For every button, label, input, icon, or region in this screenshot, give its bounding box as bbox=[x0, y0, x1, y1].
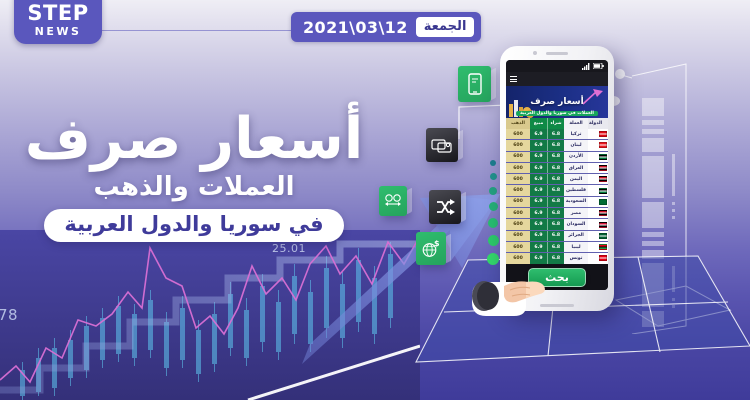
cell-buy: 6.8 bbox=[547, 219, 564, 229]
tile-edge bbox=[461, 192, 466, 223]
tile-edge bbox=[491, 68, 496, 101]
cell-country-name: ليبيا bbox=[564, 242, 588, 252]
phone-camera bbox=[533, 51, 537, 55]
cell-sell: 6.9 bbox=[530, 208, 547, 218]
logo-primary-text: STEP bbox=[27, 3, 88, 24]
cell-buy: 6.8 bbox=[547, 185, 564, 195]
cell-buy: 6.8 bbox=[547, 163, 564, 173]
cell-gold: 600 bbox=[506, 208, 530, 218]
cell-flag bbox=[588, 219, 608, 229]
cell-gold: 600 bbox=[506, 185, 530, 195]
th-sell: مبيع bbox=[530, 118, 547, 129]
table-row[interactable]: 6006.96.8العراق bbox=[506, 163, 608, 174]
cell-buy: 6.8 bbox=[547, 129, 564, 139]
dot-3 bbox=[489, 187, 497, 195]
cell-country-name: الجزائر bbox=[564, 231, 588, 241]
dot-4 bbox=[489, 202, 498, 211]
th-buy: شراء bbox=[547, 118, 564, 129]
flag-icon bbox=[599, 188, 607, 194]
cell-country-name: الأردن bbox=[564, 152, 588, 162]
cell-sell: 6.9 bbox=[530, 140, 547, 150]
headline-block: أسعار صرف العملات والذهب في سوريا والدول… bbox=[8, 112, 380, 242]
signal-icon bbox=[582, 63, 590, 70]
cell-gold: 600 bbox=[506, 219, 530, 229]
table-row[interactable]: 6006.96.8اليمن bbox=[506, 174, 608, 185]
progress-dots bbox=[487, 160, 499, 265]
cell-country-name: العراق bbox=[564, 163, 588, 173]
cell-country-name: مصر bbox=[564, 208, 588, 218]
flag-icon bbox=[599, 244, 607, 250]
table-row[interactable]: 6006.96.8السعودية bbox=[506, 197, 608, 208]
cell-country-name: تركيا bbox=[564, 129, 588, 139]
cell-gold: 600 bbox=[506, 174, 530, 184]
globe-currency-icon[interactable]: $ bbox=[416, 232, 446, 265]
tile-edge bbox=[446, 234, 451, 264]
flag-icon bbox=[599, 176, 607, 182]
banner-arrow-icon bbox=[583, 89, 605, 105]
cell-flag bbox=[588, 231, 608, 241]
cell-sell: 6.9 bbox=[530, 197, 547, 207]
cell-sell: 6.9 bbox=[530, 152, 547, 162]
cell-buy: 6.8 bbox=[547, 208, 564, 218]
cell-buy: 6.8 bbox=[547, 197, 564, 207]
flag-icon bbox=[599, 233, 607, 239]
cell-gold: 600 bbox=[506, 197, 530, 207]
coins-glyph bbox=[384, 192, 402, 210]
table-row[interactable]: 6006.96.8الأردن bbox=[506, 152, 608, 163]
cell-country-name: السودان bbox=[564, 219, 588, 229]
chart-annotation-left: 78 bbox=[0, 306, 18, 324]
app-banner: أسعار صرف العملات في سوريا والدول العربي… bbox=[506, 86, 608, 118]
cell-flag bbox=[588, 163, 608, 173]
flag-icon bbox=[599, 154, 607, 160]
globe-glyph: $ bbox=[421, 239, 441, 259]
cell-gold: 600 bbox=[506, 163, 530, 173]
cell-flag bbox=[588, 208, 608, 218]
cell-gold: 600 bbox=[506, 152, 530, 162]
table-header-row: الذهب مبيع شراء العملة الدولة bbox=[506, 118, 608, 129]
phone-screen: أسعار صرف العملات في سوريا والدول العربي… bbox=[506, 60, 608, 290]
credit-cards-icon[interactable] bbox=[426, 128, 458, 162]
mobile-app-icon[interactable] bbox=[458, 66, 491, 102]
date-value: 2021\03\12 bbox=[303, 18, 408, 37]
cell-flag bbox=[588, 242, 608, 252]
cards-glyph bbox=[431, 136, 453, 154]
th-flag: الدولة bbox=[588, 118, 608, 129]
table-row[interactable]: 6006.96.8فلسطين bbox=[506, 185, 608, 196]
cell-flag bbox=[588, 140, 608, 150]
flag-icon bbox=[599, 222, 607, 228]
cell-sell: 6.9 bbox=[530, 242, 547, 252]
hand-pointer-illustration bbox=[470, 262, 580, 332]
table-row[interactable]: 6006.96.8لبنان bbox=[506, 140, 608, 151]
headline-subtitle: العملات والذهب bbox=[8, 174, 380, 200]
cell-gold: 600 bbox=[506, 129, 530, 139]
rates-table-body[interactable]: 6006.96.8تركيا6006.96.8لبنان6006.96.8الأ… bbox=[506, 129, 608, 264]
cell-buy: 6.8 bbox=[547, 140, 564, 150]
th-gold: الذهب bbox=[506, 118, 530, 129]
cell-flag bbox=[588, 174, 608, 184]
cell-flag bbox=[588, 253, 608, 263]
table-row[interactable]: 6006.96.8تركيا bbox=[506, 129, 608, 140]
dot-1 bbox=[490, 160, 496, 166]
table-row[interactable]: 6006.96.8السودان bbox=[506, 219, 608, 230]
cell-buy: 6.8 bbox=[547, 174, 564, 184]
flag-icon bbox=[599, 255, 607, 261]
date-badge: 2021\03\12 الجمعة bbox=[291, 12, 481, 42]
dot-6 bbox=[488, 235, 499, 246]
cell-sell: 6.9 bbox=[530, 163, 547, 173]
flag-icon bbox=[599, 131, 607, 137]
flag-icon bbox=[599, 199, 607, 205]
cell-country-name: اليمن bbox=[564, 174, 588, 184]
tile-edge bbox=[458, 130, 463, 161]
table-row[interactable]: 6006.96.8ليبيا bbox=[506, 242, 608, 253]
cell-flag bbox=[588, 185, 608, 195]
phone-glyph bbox=[467, 73, 483, 95]
flag-icon bbox=[599, 165, 607, 171]
cell-buy: 6.8 bbox=[547, 152, 564, 162]
hamburger-icon[interactable] bbox=[510, 76, 517, 82]
table-row[interactable]: 6006.96.8الجزائر bbox=[506, 231, 608, 242]
tile-edge bbox=[407, 188, 412, 215]
cell-sell: 6.9 bbox=[530, 174, 547, 184]
cell-gold: 600 bbox=[506, 140, 530, 150]
status-bar bbox=[506, 60, 608, 72]
flag-icon bbox=[599, 142, 607, 148]
cell-gold: 600 bbox=[506, 242, 530, 252]
step-news-logo[interactable]: STEP NEWS bbox=[14, 0, 102, 44]
cell-sell: 6.9 bbox=[530, 185, 547, 195]
th-name: العملة bbox=[564, 118, 588, 129]
cell-sell: 6.9 bbox=[530, 129, 547, 139]
phone-speaker bbox=[546, 52, 568, 55]
battery-icon bbox=[593, 63, 604, 69]
cell-country-name: فلسطين bbox=[564, 185, 588, 195]
cell-buy: 6.8 bbox=[547, 242, 564, 252]
cell-flag bbox=[588, 197, 608, 207]
page-title: أسعار صرف bbox=[8, 112, 380, 168]
banner-subtitle: العملات في سوريا والدول العربية bbox=[516, 111, 598, 116]
cell-country-name: لبنان bbox=[564, 140, 588, 150]
infographic-banner: 78 25.01 bbox=[0, 0, 750, 400]
headline-pill: في سوريا والدول العربية bbox=[44, 209, 343, 242]
shuffle-glyph bbox=[435, 198, 455, 216]
cell-sell: 6.9 bbox=[530, 231, 547, 241]
banner-title: أسعار صرف bbox=[530, 97, 583, 107]
svg-text:$: $ bbox=[434, 239, 440, 248]
app-toolbar bbox=[506, 72, 608, 86]
cell-sell: 6.9 bbox=[530, 219, 547, 229]
cell-buy: 6.8 bbox=[547, 231, 564, 241]
flag-icon bbox=[599, 210, 607, 216]
cell-country-name: السعودية bbox=[564, 197, 588, 207]
dot-2 bbox=[490, 173, 497, 180]
shuffle-exchange-icon[interactable] bbox=[429, 190, 461, 224]
weekday-label: الجمعة bbox=[416, 17, 475, 37]
headline-region: في سوريا والدول العربية bbox=[64, 212, 323, 236]
cell-gold: 600 bbox=[506, 231, 530, 241]
cell-flag bbox=[588, 129, 608, 139]
logo-secondary-text: NEWS bbox=[35, 26, 82, 37]
dot-5 bbox=[488, 218, 498, 228]
money-exchange-icon[interactable] bbox=[379, 186, 407, 216]
table-row[interactable]: 6006.96.8مصر bbox=[506, 208, 608, 219]
cell-flag bbox=[588, 152, 608, 162]
